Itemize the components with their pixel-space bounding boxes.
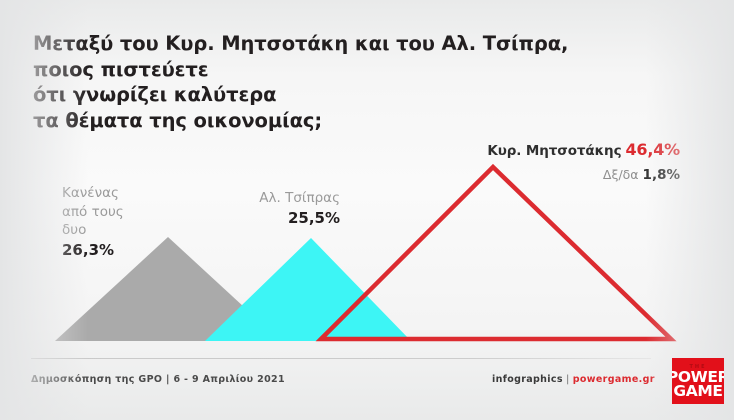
powergame-logo[interactable]: THE POWER GAME [672, 358, 724, 404]
headline-line-2: ποιος πιστεύετε [33, 57, 593, 83]
logo-game-text: GAME [673, 384, 722, 398]
series-label-none: Κανένας από τους δυο 26,3% [62, 184, 124, 260]
series-label-dk: Δξ/δα1,8% [400, 164, 680, 183]
series-name-none-3: δυο [62, 221, 124, 240]
series-value-dk: 1,8% [643, 167, 680, 183]
series-name-mitsotakis: Κυρ. Μητσοτάκης [487, 143, 621, 159]
footer-divider [31, 358, 651, 359]
footer-credit: infographics|powergame.gr [492, 374, 655, 385]
series-name-dk: Δξ/δα [603, 167, 639, 182]
infographic-canvas: Μεταξύ του Κυρ. Μητσοτάκη και του Αλ. Τσ… [0, 0, 734, 420]
headline-line-4: τα θέματα της οικονομίας; [33, 108, 593, 134]
series-name-tsipras: Αλ. Τσίπρας [232, 189, 340, 208]
series-name-none-2: από τους [62, 203, 124, 222]
footer-credit-word: infographics [492, 374, 563, 385]
headline-block: Μεταξύ του Κυρ. Μητσοτάκη και του Αλ. Τσ… [33, 31, 593, 133]
footer-source: Δημοσκόπηση της GPO | 6 - 9 Απριλίου 202… [31, 374, 285, 385]
headline-line-1: Μεταξύ του Κυρ. Μητσοτάκη και του Αλ. Τσ… [33, 31, 593, 57]
series-value-none: 26,3% [62, 240, 124, 260]
footer-credit-separator: | [566, 374, 570, 385]
footer-credit-site[interactable]: powergame.gr [573, 374, 655, 385]
series-value-tsipras: 25,5% [232, 208, 340, 228]
chart-triangle-tsipras [205, 238, 411, 341]
series-label-mitsotakis: Κυρ. Μητσοτάκης46,4% Δξ/δα1,8% [400, 140, 680, 183]
series-name-none-1: Κανένας [62, 184, 124, 203]
series-value-mitsotakis: 46,4% [625, 140, 680, 159]
series-label-tsipras: Αλ. Τσίπρας 25,5% [232, 189, 340, 228]
headline-line-3: ότι γνωρίζει καλύτερα [33, 82, 593, 108]
